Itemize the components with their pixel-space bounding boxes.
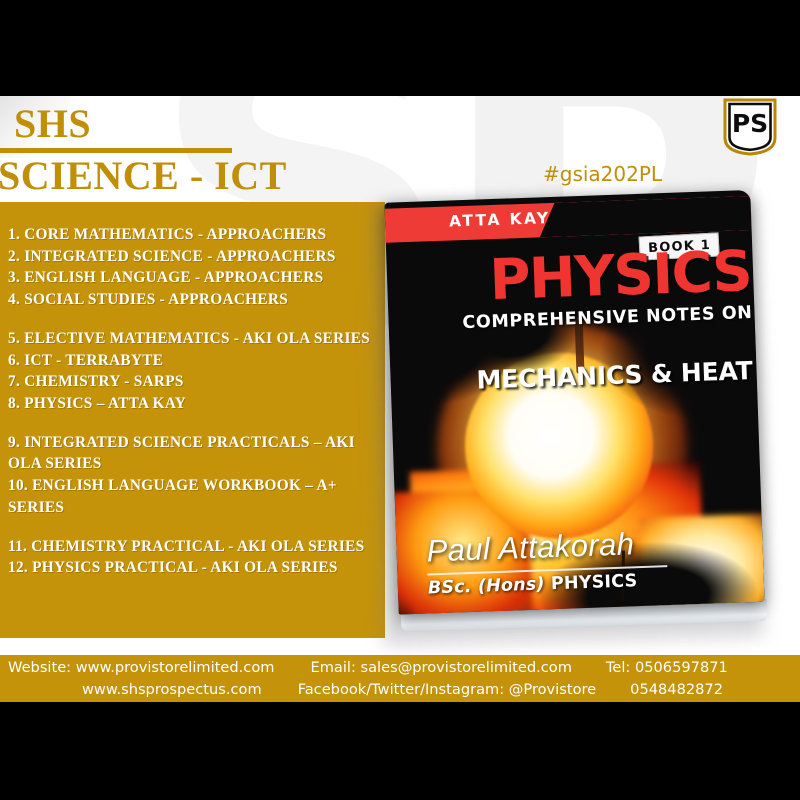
booklist-item: 5. ELECTIVE MATHEMATICS - AKI OLA SERIES <box>8 328 375 350</box>
credentials-prefix: BSc. (Hons) <box>428 574 545 598</box>
footer-email[interactable]: Email: sales@provistorelimited.com <box>310 657 571 678</box>
footer-tel-primary: Tel: 0506597871 <box>606 657 728 678</box>
footer-row-2: www.shsprospectus.com Facebook/Twitter/I… <box>0 679 800 700</box>
book-title: PHYSICS <box>424 244 752 311</box>
book-author: Paul Attakorah <box>426 526 635 569</box>
booklist-item: 2. INTEGRATED SCIENCE - APPROACHERS <box>8 246 375 268</box>
logo-monogram: PS <box>732 109 768 138</box>
booklist-item: 1. CORE MATHEMATICS - APPROACHERS <box>8 224 375 246</box>
credentials-suffix: PHYSICS <box>551 571 638 594</box>
book-front-cover: ATTA KAY BOOK 1 PHYSICS COMPREHENSIVE NO… <box>384 190 764 615</box>
booklist: 1. CORE MATHEMATICS - APPROACHERS2. INTE… <box>0 202 385 579</box>
booklist-item: 6. ICT - TERRABYTE <box>8 350 375 372</box>
bottom-black-band <box>0 702 800 800</box>
footer-row-1: Website: www.provistorelimited.com Email… <box>0 657 800 678</box>
imprint-banner-notch <box>539 196 752 237</box>
footer-website-secondary[interactable]: www.shsprospectus.com <box>82 679 262 700</box>
page-title: SHS SCIENCE - ICT <box>0 104 287 197</box>
title-line-subject: SCIENCE - ICT <box>0 156 287 197</box>
booklist-item: 10. ENGLISH LANGUAGE WORKBOOK – A+ SERIE… <box>8 475 375 518</box>
booklist-item: 9. INTEGRATED SCIENCE PRACTICALS – AKI O… <box>8 432 375 475</box>
hashtag-label: #gsia202PL <box>543 162 662 186</box>
footer-social-handles[interactable]: Facebook/Twitter/Instagram: @Provistore <box>298 679 596 700</box>
booklist-item: 12. PHYSICS PRACTICAL - AKI OLA SERIES <box>8 557 375 579</box>
top-black-band <box>0 0 800 96</box>
provistore-logo: PS <box>722 98 778 156</box>
booklist-item: 4. SOCIAL STUDIES - APPROACHERS <box>8 289 375 311</box>
booklist-item: 3. ENGLISH LANGUAGE - APPROACHERS <box>8 267 375 289</box>
footer-website[interactable]: Website: www.provistorelimited.com <box>8 657 274 678</box>
book-imprint: ATTA KAY <box>449 209 551 231</box>
booklist-item: 7. CHEMISTRY - SARPS <box>8 371 375 393</box>
booklist-item: 11. CHEMISTRY PRACTICAL - AKI OLA SERIES <box>8 536 375 558</box>
title-line-shs: SHS <box>0 104 287 145</box>
poster: P S SHS SCIENCE - ICT #gsia202PL PS 1. C… <box>0 0 800 800</box>
booklist-panel: 1. CORE MATHEMATICS - APPROACHERS2. INTE… <box>0 202 385 638</box>
contact-footer: Website: www.provistorelimited.com Email… <box>0 655 800 702</box>
book-cover-image: ATTA KAY BOOK 1 PHYSICS COMPREHENSIVE NO… <box>384 190 779 643</box>
booklist-item: 8. PHYSICS – ATTA KAY <box>8 393 375 415</box>
footer-tel-secondary: 0548482872 <box>630 679 723 700</box>
